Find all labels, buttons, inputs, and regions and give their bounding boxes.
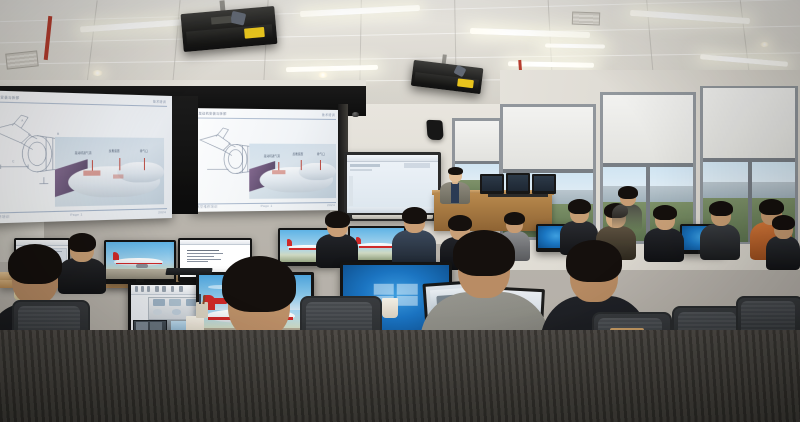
slide-footer-right: 2024 xyxy=(158,210,166,214)
recessed-downlight xyxy=(318,72,328,78)
window-blind[interactable] xyxy=(703,88,795,160)
window-blind[interactable] xyxy=(455,121,499,163)
classroom-photo: 发动机安装与拆卸 技术培训 AB xyxy=(0,0,800,422)
photo-caption-3: 排气口 xyxy=(317,152,325,156)
slide-footer-right: 2024 xyxy=(327,203,335,207)
slide-footer-left: 航空维修培训 xyxy=(196,204,217,208)
linear-led-light xyxy=(545,43,605,48)
projection-screen-left: 发动机安装与拆卸 技术培训 AB xyxy=(0,90,172,224)
air-vent xyxy=(5,50,38,69)
student xyxy=(316,214,358,266)
slide-footer-center: Page 1 xyxy=(261,204,273,208)
instructor xyxy=(440,168,470,202)
slide-title: 发动机安装与拆卸 xyxy=(0,95,19,100)
photo-caption-1: 发动机进气道 xyxy=(75,151,92,155)
slide-title: 发动机安装与拆卸 xyxy=(199,111,227,115)
slide-header-right: 技术培训 xyxy=(153,99,166,103)
student xyxy=(612,188,642,228)
svg-text:B: B xyxy=(57,132,59,136)
student xyxy=(700,204,740,258)
student xyxy=(766,218,800,268)
window-blind[interactable] xyxy=(503,107,593,171)
svg-text:C: C xyxy=(12,159,14,163)
photo-caption-2: 反推装置 xyxy=(109,149,120,153)
sprinkler-pipe xyxy=(44,16,53,60)
workstation-2-monitor[interactable] xyxy=(104,240,176,284)
photo-caption-3: 排气口 xyxy=(140,149,148,153)
slide-photo: 发动机进气道 反推装置 排气口 xyxy=(55,137,164,207)
linear-led-light xyxy=(286,65,378,72)
window-blind[interactable] xyxy=(603,95,693,165)
screen-divider xyxy=(172,96,198,214)
projector-label xyxy=(244,27,265,39)
photo-caption-1: 发动机进气道 xyxy=(264,154,280,158)
linear-led-light xyxy=(700,54,788,67)
student xyxy=(644,208,684,260)
slide-footer-left: 航空维修培训 xyxy=(0,214,10,219)
wall-speaker xyxy=(426,120,443,141)
air-vent xyxy=(572,12,600,26)
photo-caption-2: 反推装置 xyxy=(293,152,304,156)
ceiling-projector-left xyxy=(180,2,278,56)
recessed-downlight xyxy=(92,70,103,76)
slide-header-right: 技术培训 xyxy=(322,113,335,117)
svg-text:A: A xyxy=(21,118,23,122)
slide-footer-center: Page 1 xyxy=(70,212,82,217)
paper-cup[interactable] xyxy=(382,298,398,318)
projection-screen-right: 发动机安装与拆卸 技术培训 xyxy=(191,108,340,212)
dome-camera xyxy=(352,112,359,117)
recessed-downlight xyxy=(760,42,769,47)
podium-monitor-group xyxy=(480,174,558,200)
slide-photo: 发动机进气道 反推装置 排气口 xyxy=(249,144,336,199)
carpet-floor xyxy=(0,330,800,422)
